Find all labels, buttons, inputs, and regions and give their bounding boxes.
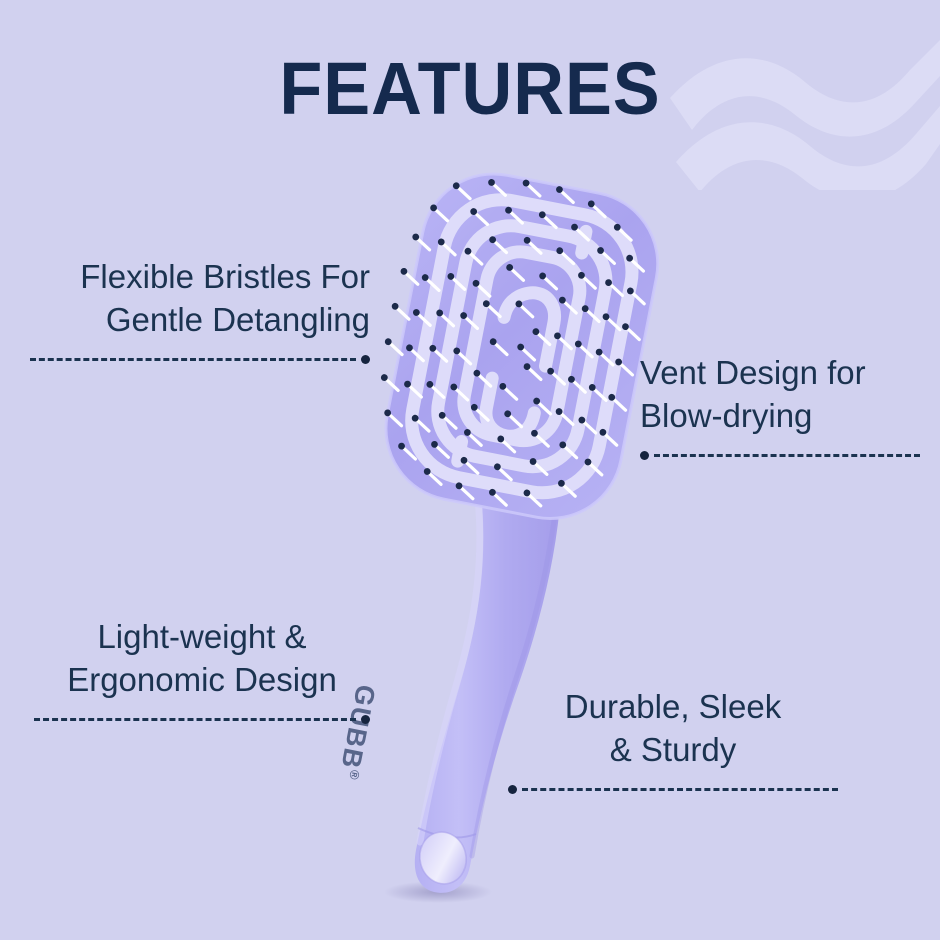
brush-handle — [414, 468, 562, 893]
dashed-line — [34, 718, 356, 721]
connector-line — [30, 354, 370, 366]
connector-line — [34, 714, 370, 726]
feature-label: Durable, Sleek & Sturdy — [508, 686, 838, 772]
feature-flexible-bristles: Flexible Bristles For Gentle Detangling — [30, 256, 370, 366]
dashed-line — [522, 788, 838, 791]
connector-dot — [508, 785, 517, 794]
connector-dot — [640, 451, 649, 460]
dashed-line — [30, 358, 356, 361]
page-title: FEATURES — [24, 52, 917, 126]
feature-light-weight: Light-weight & Ergonomic Design — [34, 616, 370, 726]
dashed-line — [654, 454, 920, 457]
brush-head — [357, 158, 670, 530]
connector-line — [640, 450, 920, 462]
feature-durable-sleek: Durable, Sleek & Sturdy — [508, 686, 838, 796]
connector-line — [508, 784, 838, 796]
feature-label: Vent Design for Blow-drying — [640, 352, 920, 438]
infographic-canvas: FEATURES — [0, 0, 940, 940]
hair-brush-illustration — [330, 150, 690, 930]
connector-dot — [361, 715, 370, 724]
feature-label: Flexible Bristles For Gentle Detangling — [30, 256, 370, 342]
feature-label: Light-weight & Ergonomic Design — [34, 616, 370, 702]
feature-vent-design: Vent Design for Blow-drying — [640, 352, 920, 462]
connector-dot — [361, 355, 370, 364]
